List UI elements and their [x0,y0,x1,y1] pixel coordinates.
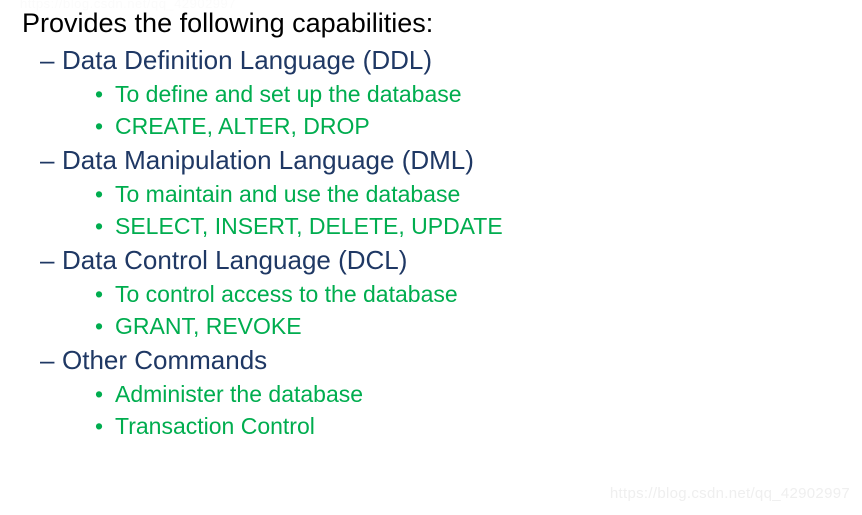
outline-item-label: SELECT, INSERT, DELETE, UPDATE [115,213,503,239]
outline-list: Provides the following capabilities: – D… [0,0,862,442]
outline-item[interactable]: • Administer the database [95,378,862,410]
dash-marker-icon: – [40,142,58,178]
dash-marker-icon: – [40,242,58,278]
bullet-marker-icon: • [95,310,111,342]
bullet-marker-icon: • [95,378,111,410]
outline-group-title-label: Data Control Language (DCL) [62,245,407,275]
bullet-marker-icon: • [95,78,111,110]
bullet-marker-icon: • [95,178,111,210]
bullet-marker-icon: • [95,278,111,310]
outline-item-label: Transaction Control [115,413,315,439]
outline-group-title-label: Data Definition Language (DDL) [62,45,432,75]
watermark-bottom: https://blog.csdn.net/qq_42902997 [610,485,850,502]
outline-group-title-label: Other Commands [62,345,267,375]
bullet-marker-icon: • [95,210,111,242]
outline-heading-label: Provides the following capabilities: [22,8,433,38]
outline-group-title-other[interactable]: – Other Commands [40,342,862,378]
outline-item-label: To control access to the database [115,281,458,307]
bullet-marker-icon: • [95,410,111,442]
outline-group-title-ddl[interactable]: – Data Definition Language (DDL) [40,42,862,78]
dash-marker-icon: – [40,42,58,78]
dash-marker-icon: – [40,342,58,378]
outline-item-label: To maintain and use the database [115,181,460,207]
outline-group-title-dml[interactable]: – Data Manipulation Language (DML) [40,142,862,178]
outline-item[interactable]: • To control access to the database [95,278,862,310]
outline-item[interactable]: • To define and set up the database [95,78,862,110]
outline-item[interactable]: • CREATE, ALTER, DROP [95,110,862,142]
bullet-marker-icon: • [95,110,111,142]
outline-item[interactable]: • Transaction Control [95,410,862,442]
outline-item[interactable]: • GRANT, REVOKE [95,310,862,342]
outline-item-label: GRANT, REVOKE [115,313,302,339]
outline-heading: Provides the following capabilities: [22,0,862,42]
outline-item-label: Administer the database [115,381,363,407]
outline-item-label: CREATE, ALTER, DROP [115,113,370,139]
slide-canvas: https://blog.csdn.net/qq_42902997 Provid… [0,0,862,515]
outline-group-title-dcl[interactable]: – Data Control Language (DCL) [40,242,862,278]
outline-item[interactable]: • SELECT, INSERT, DELETE, UPDATE [95,210,862,242]
outline-group-title-label: Data Manipulation Language (DML) [62,145,474,175]
outline-item[interactable]: • To maintain and use the database [95,178,862,210]
outline-item-label: To define and set up the database [115,81,462,107]
